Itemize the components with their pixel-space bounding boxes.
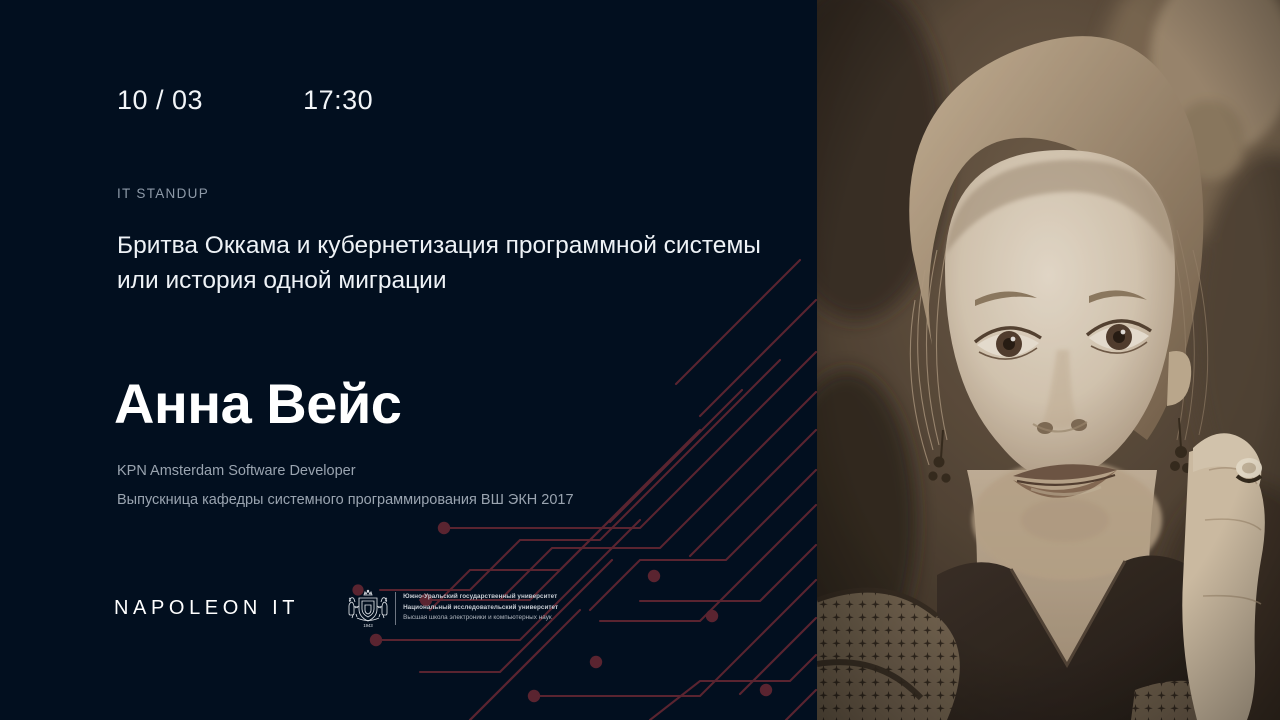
speaker-details: KPN Amsterdam Software Developer Выпускн… [117,457,574,515]
susu-coat-of-arms-icon: 1943 [346,588,390,628]
susu-crest-year: 1943 [363,623,373,628]
susu-line-1: Южно-Уральский государственный университ… [403,592,558,603]
susu-line-3: Высшая школа электроники и компьютерных … [403,613,558,624]
slide-content-panel: 10 / 03 17:30 IT STANDUP Бритва Оккама и… [0,0,818,720]
napoleon-it-logo: NAPOLEON IT [114,597,299,620]
talk-title: Бритва Оккама и кубернетизация программн… [117,228,797,298]
event-date: 10 / 03 [117,85,203,116]
speaker-name: Анна Вейс [114,374,401,434]
presentation-slide: 10 / 03 17:30 IT STANDUP Бритва Оккама и… [0,0,1280,720]
speaker-education: Выпускница кафедры системного программир… [117,486,574,515]
event-category-label: IT STANDUP [117,186,209,201]
logo-divider [395,592,396,625]
logo-row: NAPOLEON IT [114,588,558,628]
susu-line-2: Национальный исследовательский университ… [403,603,558,614]
speaker-portrait-photo [817,0,1280,720]
speaker-role: KPN Amsterdam Software Developer [117,457,574,486]
susu-logo: 1943 Южно-Уральский государственный унив… [346,588,558,628]
susu-logo-text: Южно-Уральский государственный университ… [403,592,558,624]
event-time: 17:30 [303,85,373,116]
event-datetime: 10 / 03 17:30 [117,85,373,116]
